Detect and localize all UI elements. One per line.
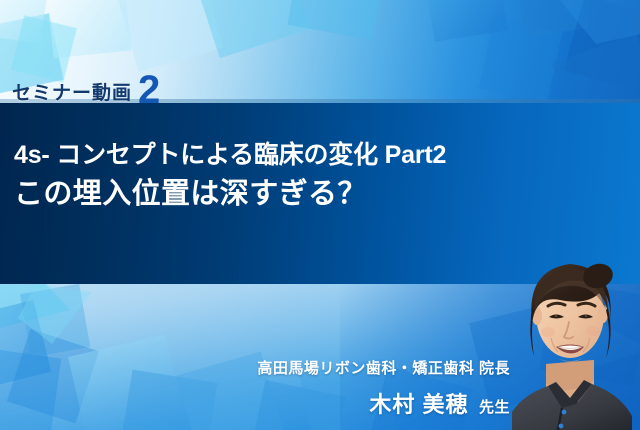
credit-honorific: 先生 [479, 399, 510, 416]
credit-presenter-name: 木村 美穂 [369, 392, 468, 417]
credit-clinic-title: 高田馬場リボン歯科・矯正歯科 院長 [257, 360, 510, 378]
seminar-label-text: セミナー動画 [12, 84, 132, 103]
seminar-title-slide: セミナー動画 2 4s- コンセプトによる臨床の変化 Part2 この埋入位置は… [0, 0, 640, 430]
presenter-portrait [498, 252, 640, 430]
presenter-photo-illustration [498, 252, 640, 430]
title-line-2: この埋入位置は深すぎる？ [14, 177, 626, 212]
credit-name-row: 木村 美穂 先生 [257, 387, 510, 419]
title-text-block: 4s- コンセプトによる臨床の変化 Part2 この埋入位置は深すぎる？ [14, 141, 626, 211]
credits-block: 高田馬場リボン歯科・矯正歯科 院長 木村 美穂 先生 [257, 360, 510, 419]
title-line-1: 4s- コンセプトによる臨床の変化 Part2 [14, 141, 626, 171]
seminar-label: セミナー動画 2 [12, 72, 159, 103]
seminar-episode-number: 2 [138, 75, 159, 106]
